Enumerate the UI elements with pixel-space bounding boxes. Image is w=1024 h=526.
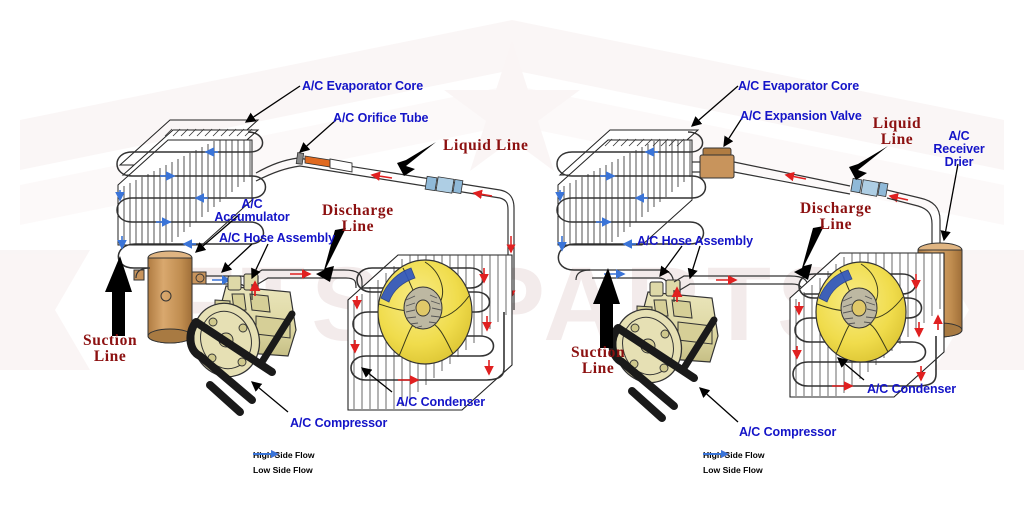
liquid-line-arrow	[849, 146, 888, 180]
expansion-valve-body	[700, 155, 734, 178]
right-system-graphics	[0, 0, 1024, 526]
label-discharge-line-left: Discharge Line	[322, 203, 394, 235]
suction-line-text-2: Line	[83, 349, 137, 365]
label-orifice-tube: A/C Orifice Tube	[333, 112, 428, 126]
discharge-line-text-1: Discharge	[322, 203, 394, 219]
right-evaporator-core	[557, 130, 706, 270]
label-compressor-right: A/C Compressor	[739, 426, 836, 440]
right-line-coupling	[851, 178, 888, 196]
legend-low-label: Low Side Flow	[253, 465, 313, 475]
label-accumulator-line2: Accumulator	[209, 211, 295, 225]
label-expansion-valve: A/C Expansion Valve	[740, 110, 862, 124]
discharge-line-text-2: Line	[800, 217, 872, 233]
legend-left: High Side Flow Low Side Flow	[253, 450, 315, 475]
ac-system-diagram: FTSOPARTS	[0, 0, 1024, 526]
label-evaporator-core-left: A/C Evaporator Core	[302, 80, 423, 94]
right-condenser-fan	[816, 262, 906, 362]
label-discharge-line-right: Discharge Line	[800, 201, 872, 233]
legend-item-low-left: Low Side Flow	[253, 465, 315, 475]
label-liquid-line-left: Liquid Line	[443, 138, 528, 154]
legend-low-arrow-icon	[703, 450, 729, 458]
label-hose-assembly-right: A/C Hose Assembly	[637, 235, 753, 249]
legend-right: High Side Flow Low Side Flow	[703, 450, 765, 475]
legend-low-label: Low Side Flow	[703, 465, 763, 475]
liquid-line-text-1: Liquid	[867, 116, 927, 132]
legend-low-arrow-icon	[253, 450, 279, 458]
discharge-line-text-1: Discharge	[800, 201, 872, 217]
label-evaporator-core-right: A/C Evaporator Core	[738, 80, 859, 94]
label-receiver-drier-line3: Drier	[919, 156, 999, 170]
suction-line-text-1: Suction	[83, 333, 137, 349]
label-condenser-right: A/C Condenser	[867, 383, 956, 397]
liquid-line-text-2: Line	[867, 132, 927, 148]
label-compressor-left: A/C Compressor	[290, 417, 387, 431]
discharge-line-text-2: Line	[322, 219, 394, 235]
right-condenser	[790, 253, 944, 397]
label-liquid-line-right: Liquid Line	[867, 116, 927, 148]
suction-line-text-2: Line	[571, 361, 625, 377]
legend-item-low-right: Low Side Flow	[703, 465, 765, 475]
label-suction-line-left: Suction Line	[83, 333, 137, 365]
right-discharge-line	[674, 276, 808, 294]
label-hose-assembly-left: A/C Hose Assembly	[219, 232, 335, 246]
suction-line-text-1: Suction	[571, 345, 625, 361]
label-condenser-left: A/C Condenser	[396, 396, 485, 410]
label-suction-line-right: Suction Line	[571, 345, 625, 377]
liquid-line-text: Liquid Line	[443, 138, 528, 154]
